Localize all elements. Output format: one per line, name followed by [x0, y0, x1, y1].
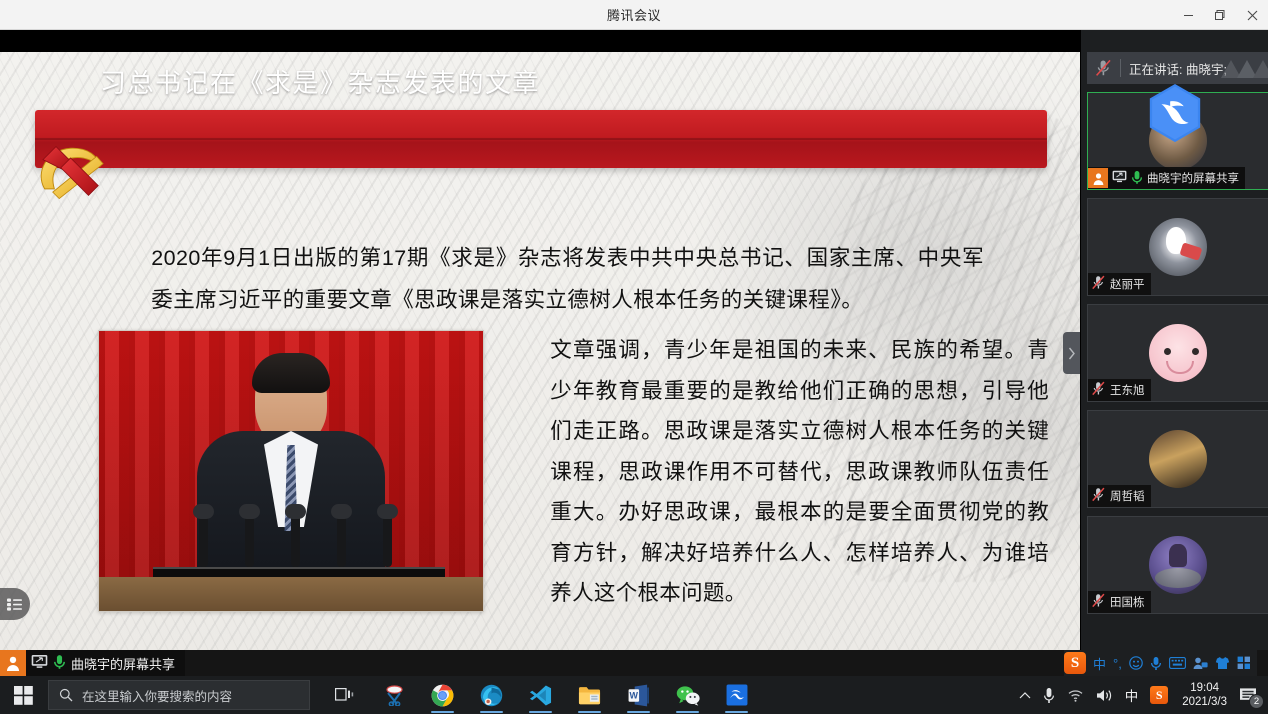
participant-tile-4[interactable]: 周哲韬	[1087, 410, 1268, 508]
participant-namebar: 田国栋	[1088, 591, 1151, 613]
snipping-tool-button[interactable]	[369, 676, 418, 714]
minimize-button[interactable]	[1172, 0, 1204, 30]
emoji-icon[interactable]	[1129, 656, 1143, 670]
tray-volume-button[interactable]	[1090, 676, 1119, 714]
clock-date: 2021/3/3	[1182, 695, 1227, 709]
close-button[interactable]	[1236, 0, 1268, 30]
list-menu-icon	[7, 598, 23, 611]
voice-input-icon[interactable]	[1150, 656, 1162, 671]
speaker-bar-divider	[1120, 59, 1121, 77]
mic-muted-icon	[1091, 275, 1106, 293]
notification-center-button[interactable]: 2	[1235, 676, 1268, 714]
start-button[interactable]	[0, 676, 46, 714]
tray-microphone-button[interactable]	[1037, 676, 1061, 714]
tencent-meeting-button[interactable]	[712, 676, 761, 714]
taskbar-search[interactable]: 在这里输入你要搜索的内容	[48, 680, 310, 710]
taskbar-clock[interactable]: 19:04 2021/3/3	[1174, 676, 1235, 714]
slide-paragraph-right-text: 文章强调，青少年是祖国的未来、民族的希望。青少年教育最重要的是教给他们正确的思想…	[503, 330, 1049, 614]
system-tray: 中 S 19:04 2021/3/3 2	[1013, 676, 1268, 714]
mic-muted-icon	[1091, 593, 1106, 611]
mic-active-icon	[1131, 170, 1143, 187]
tray-overflow-button[interactable]	[1013, 676, 1037, 714]
windows-taskbar: 在这里输入你要搜索的内容	[0, 676, 1268, 714]
punctuation-mode-icon[interactable]: °,	[1113, 656, 1122, 671]
participant-namebar: 周哲韬	[1088, 485, 1151, 507]
chinese-mode-icon[interactable]: 中	[1093, 654, 1106, 673]
tencent-meeting-logo-icon	[1144, 82, 1206, 144]
close-icon	[1247, 10, 1258, 21]
sogou-logo-icon[interactable]: S	[1064, 652, 1086, 674]
room-photo-avatar	[1149, 430, 1207, 488]
wechat-icon	[676, 685, 700, 706]
active-speaker-bar: 正在讲话: 曲晓宇;	[1087, 52, 1268, 84]
participant-name: 周哲韬	[1110, 488, 1145, 504]
participant-tile-3[interactable]: 王东旭	[1087, 304, 1268, 402]
slide-paragraph-top-text: 2020年9月1日出版的第17期《求是》杂志将发表中共中央总书记、国家主席、中央…	[104, 237, 984, 321]
snipping-tool-icon	[383, 684, 405, 706]
mic-muted-icon	[1095, 59, 1112, 77]
edge-icon	[480, 684, 503, 707]
speaker-icon	[1096, 688, 1113, 703]
restore-icon	[1214, 9, 1226, 21]
search-icon	[59, 688, 73, 702]
waveform-decor-icon	[1221, 58, 1268, 78]
task-view-icon	[335, 687, 355, 703]
pink-blob-avatar	[1149, 324, 1207, 382]
windows-start-icon	[14, 686, 33, 705]
screen-share-icon	[1112, 170, 1127, 186]
participant-name: 田国栋	[1110, 594, 1145, 610]
wechat-button[interactable]	[663, 676, 712, 714]
mic-muted-icon	[1091, 381, 1106, 399]
word-button[interactable]: W	[614, 676, 663, 714]
tencent-meeting-icon	[726, 684, 748, 706]
app-grid-icon[interactable]	[1237, 656, 1251, 670]
slide-photo	[98, 330, 484, 612]
skin-icon[interactable]	[1215, 656, 1230, 670]
search-input[interactable]: 在这里输入你要搜索的内容	[82, 686, 232, 705]
window-title: 腾讯会议	[607, 5, 661, 24]
file-explorer-button[interactable]	[565, 676, 614, 714]
user-card-icon[interactable]	[1193, 656, 1208, 670]
active-speaker-label: 正在讲话: 曲晓宇;	[1129, 59, 1227, 78]
chrome-icon	[431, 684, 454, 707]
edge-button[interactable]	[467, 676, 516, 714]
shared-screen-stage[interactable]: 习总书记在《求是》杂志发表的文章 2020年9月1日出版的第17期《求是》杂志将…	[0, 30, 1080, 650]
participant-name: 赵丽平	[1110, 276, 1145, 292]
mic-active-icon	[53, 654, 66, 672]
slide-paragraph-right: 文章强调，青少年是祖国的未来、民族的希望。青少年教育最重要的是教给他们正确的思想…	[503, 330, 1049, 614]
party-emblem-icon	[28, 132, 110, 210]
restore-button[interactable]	[1204, 0, 1236, 30]
participant-name: 王东旭	[1110, 382, 1145, 398]
minimize-icon	[1183, 10, 1194, 21]
soft-keyboard-icon[interactable]	[1169, 657, 1186, 669]
chevron-up-icon	[1019, 691, 1031, 700]
sogou-ime-toolbar[interactable]: S 中 °,	[1064, 650, 1257, 676]
chrome-button[interactable]	[418, 676, 467, 714]
participant-name: 曲晓宇的屏幕共享	[1147, 170, 1239, 186]
participant-namebar: 赵丽平	[1088, 273, 1151, 295]
notification-count: 2	[1249, 694, 1264, 709]
person-orange-icon	[0, 650, 26, 676]
slide-title-banner	[35, 110, 1047, 168]
photo-microphone-bar	[153, 567, 445, 577]
rabbit-cartoon-avatar	[1149, 218, 1207, 276]
participant-namebar: 曲晓宇的屏幕共享	[1088, 167, 1245, 189]
slide-title: 习总书记在《求是》杂志发表的文章	[100, 52, 540, 110]
microphone-icon	[1043, 687, 1055, 704]
svg-text:W: W	[629, 690, 638, 700]
sogou-tray-icon: S	[1150, 686, 1168, 704]
file-explorer-icon	[578, 685, 601, 706]
photo-podium	[99, 577, 483, 611]
tray-sogou-button[interactable]: S	[1144, 676, 1174, 714]
chevron-right-icon	[1068, 347, 1076, 360]
participants-sidebar: 正在讲话: 曲晓宇;	[1080, 30, 1268, 650]
slide-paragraph-top: 2020年9月1日出版的第17期《求是》杂志将发表中共中央总书记、国家主席、中央…	[104, 237, 984, 321]
vscode-icon	[529, 684, 552, 707]
taskbar-pinned-apps: W	[320, 676, 761, 714]
task-view-button[interactable]	[320, 676, 369, 714]
tencent-meeting-window: 腾讯会议	[0, 0, 1268, 714]
participant-tile-2[interactable]: 赵丽平	[1087, 198, 1268, 296]
title-bar: 腾讯会议	[0, 0, 1268, 30]
tray-ime-mode[interactable]: 中	[1119, 676, 1145, 714]
screen-share-indicator[interactable]: 曲晓宇的屏幕共享	[0, 650, 185, 676]
participant-tiles: 曲晓宇的屏幕共享 赵丽平	[1087, 92, 1268, 622]
tray-wifi-button[interactable]	[1061, 676, 1090, 714]
window-controls	[1172, 0, 1268, 30]
collapse-sidebar-handle[interactable]	[1063, 332, 1080, 374]
screen-share-icon	[31, 654, 48, 672]
participant-namebar: 王东旭	[1088, 379, 1151, 401]
screen-share-label: 曲晓宇的屏幕共享	[71, 654, 175, 673]
wifi-icon	[1067, 688, 1084, 702]
word-icon: W	[628, 684, 649, 707]
vscode-button[interactable]	[516, 676, 565, 714]
clock-time: 19:04	[1190, 681, 1219, 695]
person-orange-icon	[1088, 168, 1108, 188]
presentation-slide: 习总书记在《求是》杂志发表的文章 2020年9月1日出版的第17期《求是》杂志将…	[0, 52, 1080, 650]
purple-game-avatar	[1149, 536, 1207, 594]
mic-muted-icon	[1091, 487, 1106, 505]
stage-letterbox-top	[0, 30, 1080, 52]
participant-tile-5[interactable]: 田国栋	[1087, 516, 1268, 614]
